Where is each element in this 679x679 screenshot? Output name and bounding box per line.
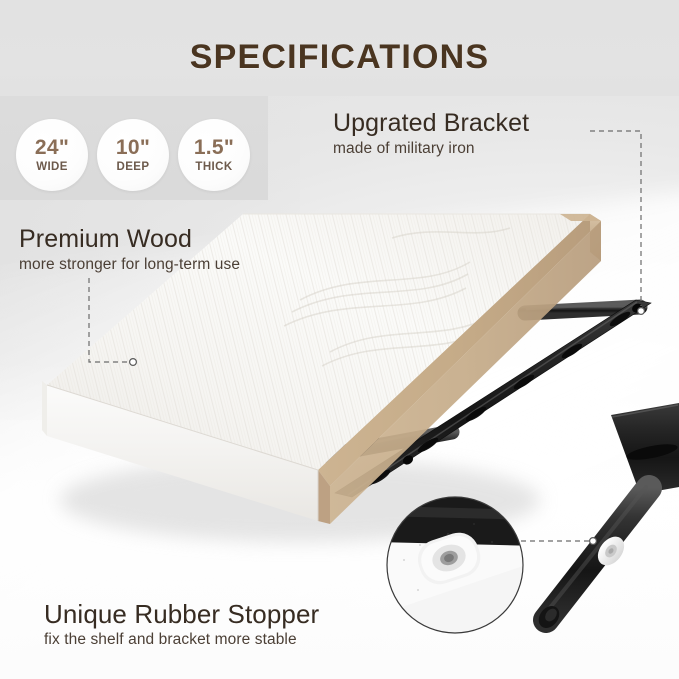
callout-premium-wood: Premium Wood more stronger for long-term…: [19, 226, 240, 274]
badge-width: 24" WIDE: [16, 119, 88, 191]
badge-depth: 10" DEEP: [97, 119, 169, 191]
callout-upgrated-bracket: Upgrated Bracket made of military iron: [333, 110, 529, 158]
badge-thickness-label: THICK: [195, 161, 232, 173]
callout-upgrated-bracket-heading: Upgrated Bracket: [333, 110, 529, 137]
badge-thickness: 1.5" THICK: [178, 119, 250, 191]
badge-depth-label: DEEP: [117, 161, 150, 173]
callout-premium-wood-heading: Premium Wood: [19, 226, 240, 253]
page-title: SPECIFICATIONS: [0, 38, 679, 77]
badge-width-label: WIDE: [36, 161, 68, 173]
callout-rubber-stopper-subtext: fix the shelf and bracket more stable: [44, 631, 319, 649]
specifications-infographic: SPECIFICATIONS 24" WIDE 10" DEEP 1.5" TH…: [0, 0, 679, 679]
badge-depth-number: 10": [116, 137, 150, 158]
callout-upgrated-bracket-subtext: made of military iron: [333, 140, 529, 158]
spec-badge-row: 24" WIDE 10" DEEP 1.5" THICK: [16, 119, 250, 191]
badge-thickness-number: 1.5": [194, 137, 234, 158]
product-illustration: [0, 0, 679, 679]
callout-premium-wood-subtext: more stronger for long-term use: [19, 256, 240, 274]
bracket-detail-specimen: [535, 403, 679, 632]
callout-unique-rubber-stopper: Unique Rubber Stopper fix the shelf and …: [44, 600, 319, 649]
callout-rubber-stopper-heading: Unique Rubber Stopper: [44, 600, 319, 628]
badge-width-number: 24": [35, 137, 69, 158]
leader-upgrated-bracket: [590, 131, 641, 306]
